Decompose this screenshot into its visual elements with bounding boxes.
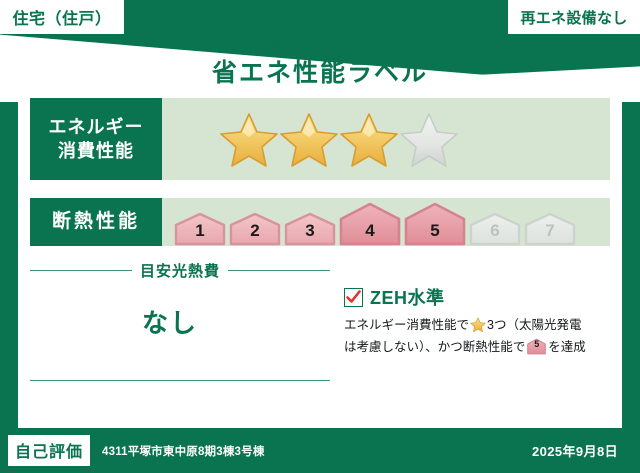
energy-performance-value <box>162 98 610 180</box>
zeh-block: ZEH水準 エネルギー消費性能で3つ（太陽光発電は考慮しない）、かつ断熱性能で5… <box>344 284 606 357</box>
star-icon-filled-1 <box>220 111 278 167</box>
zeh-heading: ZEH水準 <box>344 284 606 310</box>
utility-cost-bottom-divider <box>30 380 330 381</box>
label-card: エネルギー 消費性能 <box>18 88 622 428</box>
house-icon-level-6: 6 <box>469 212 521 246</box>
energy-performance-key: エネルギー 消費性能 <box>30 98 162 180</box>
renewable-equipment-label: 再エネ設備なし <box>520 7 627 28</box>
house-icon-level-7: 7 <box>524 212 576 246</box>
divider-right <box>228 270 330 271</box>
star-icon-empty-4 <box>400 111 458 167</box>
energy-performance-row: エネルギー 消費性能 <box>30 98 610 180</box>
house-icon-level-3: 3 <box>284 212 336 246</box>
house-level-value-6: 6 <box>469 221 521 241</box>
house-level-value-3: 3 <box>284 221 336 241</box>
zeh-desc-part1: エネルギー消費性能で <box>344 318 469 332</box>
insulation-performance-row: 断熱性能 <box>30 198 610 246</box>
house-icon-level-1: 1 <box>174 212 226 246</box>
house-level-value-4: 4 <box>339 221 401 241</box>
housing-type-badge: 住宅（住戸） <box>0 0 124 34</box>
zeh-checkbox[interactable] <box>344 288 363 307</box>
star-icon-filled-3 <box>340 111 398 167</box>
star-icon-inline <box>470 317 486 338</box>
insulation-level-scale: 1 2 3 <box>174 198 576 246</box>
renewable-equipment-badge: 再エネ設備なし <box>508 0 640 34</box>
evaluation-type-badge: 自己評価 <box>8 435 90 466</box>
housing-type-label: 住宅（住戸） <box>12 5 111 29</box>
energy-performance-label-line2: 消費性能 <box>58 139 134 163</box>
zeh-title: ZEH水準 <box>370 284 445 310</box>
insulation-performance-value: 1 2 3 <box>162 198 610 246</box>
house-level-value-7: 7 <box>524 221 576 241</box>
insulation-performance-label: 断熱性能 <box>52 210 140 234</box>
energy-performance-label-line1: エネルギー <box>49 115 144 139</box>
zeh-description: エネルギー消費性能で3つ（太陽光発電は考慮しない）、かつ断熱性能で5を達成 <box>344 316 606 357</box>
label-title-block: 建築物省エネ法に基づく 省エネ性能ラベル <box>0 38 640 89</box>
zeh-desc-star-count: 3つ（太陽光発電 <box>487 318 581 332</box>
star-icon-filled-2 <box>280 111 338 167</box>
utility-cost-heading-label: 目安光熱費 <box>140 260 220 281</box>
zeh-desc-part2: は考慮しない）、かつ断熱性能で <box>344 340 525 354</box>
house-icon-level-2: 2 <box>229 212 281 246</box>
property-address: 4311平塚市東中原8期3棟3号棟 <box>102 443 265 459</box>
house-level-value-2: 2 <box>229 221 281 241</box>
house-icon-inline: 5 <box>527 338 546 355</box>
title-subtitle: 建築物省エネ法に基づく <box>0 38 640 56</box>
utility-cost-value: なし <box>30 303 310 340</box>
utility-cost-heading: 目安光熱費 <box>30 260 330 281</box>
house-level-value-5: 5 <box>404 221 466 241</box>
house-icon-inline-value: 5 <box>527 335 546 354</box>
house-icon-level-4: 4 <box>339 202 401 246</box>
footer-bar: 自己評価 4311平塚市東中原8期3棟3号棟 2025年9月8日 <box>0 428 640 473</box>
house-level-value-1: 1 <box>174 221 226 241</box>
divider-left <box>30 270 132 271</box>
star-rating <box>220 111 458 167</box>
energy-performance-label: 住宅（住戸） 再エネ設備なし 建築物省エネ法に基づく 省エネ性能ラベル エネルギ… <box>0 0 640 473</box>
zeh-desc-part3: を達成 <box>548 340 586 354</box>
page-title: 省エネ性能ラベル <box>0 57 640 89</box>
insulation-performance-key: 断熱性能 <box>30 198 162 246</box>
house-icon-level-5: 5 <box>404 202 466 246</box>
issue-date: 2025年9月8日 <box>532 441 618 460</box>
